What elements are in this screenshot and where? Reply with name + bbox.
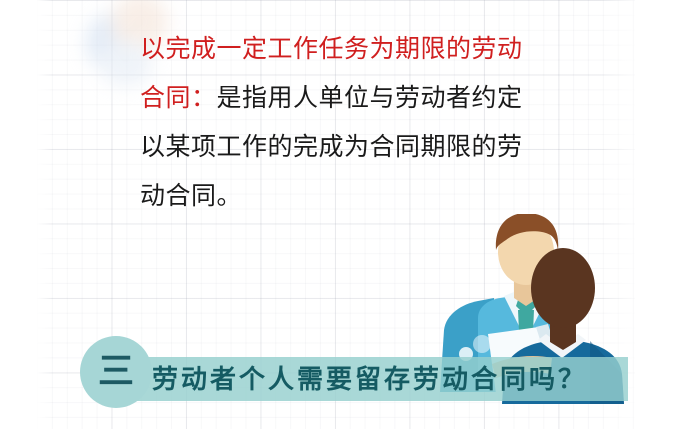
front-man-badge-2 bbox=[473, 335, 491, 353]
section-question-text: 劳动者个人需要留存劳动合同吗？ bbox=[152, 361, 622, 399]
infographic-page: 以完成一定工作任务为期限的劳动合同：是指用人单位与劳动者约定以某项工作的完成为合… bbox=[0, 0, 679, 429]
back-person-hair bbox=[531, 248, 595, 328]
grid-left-fade bbox=[30, 0, 52, 429]
section-number-circle: 三 bbox=[80, 336, 152, 408]
section-number-label: 三 bbox=[80, 336, 152, 408]
definition-paragraph: 以完成一定工作任务为期限的劳动合同：是指用人单位与劳动者约定以某项工作的完成为合… bbox=[140, 24, 540, 220]
